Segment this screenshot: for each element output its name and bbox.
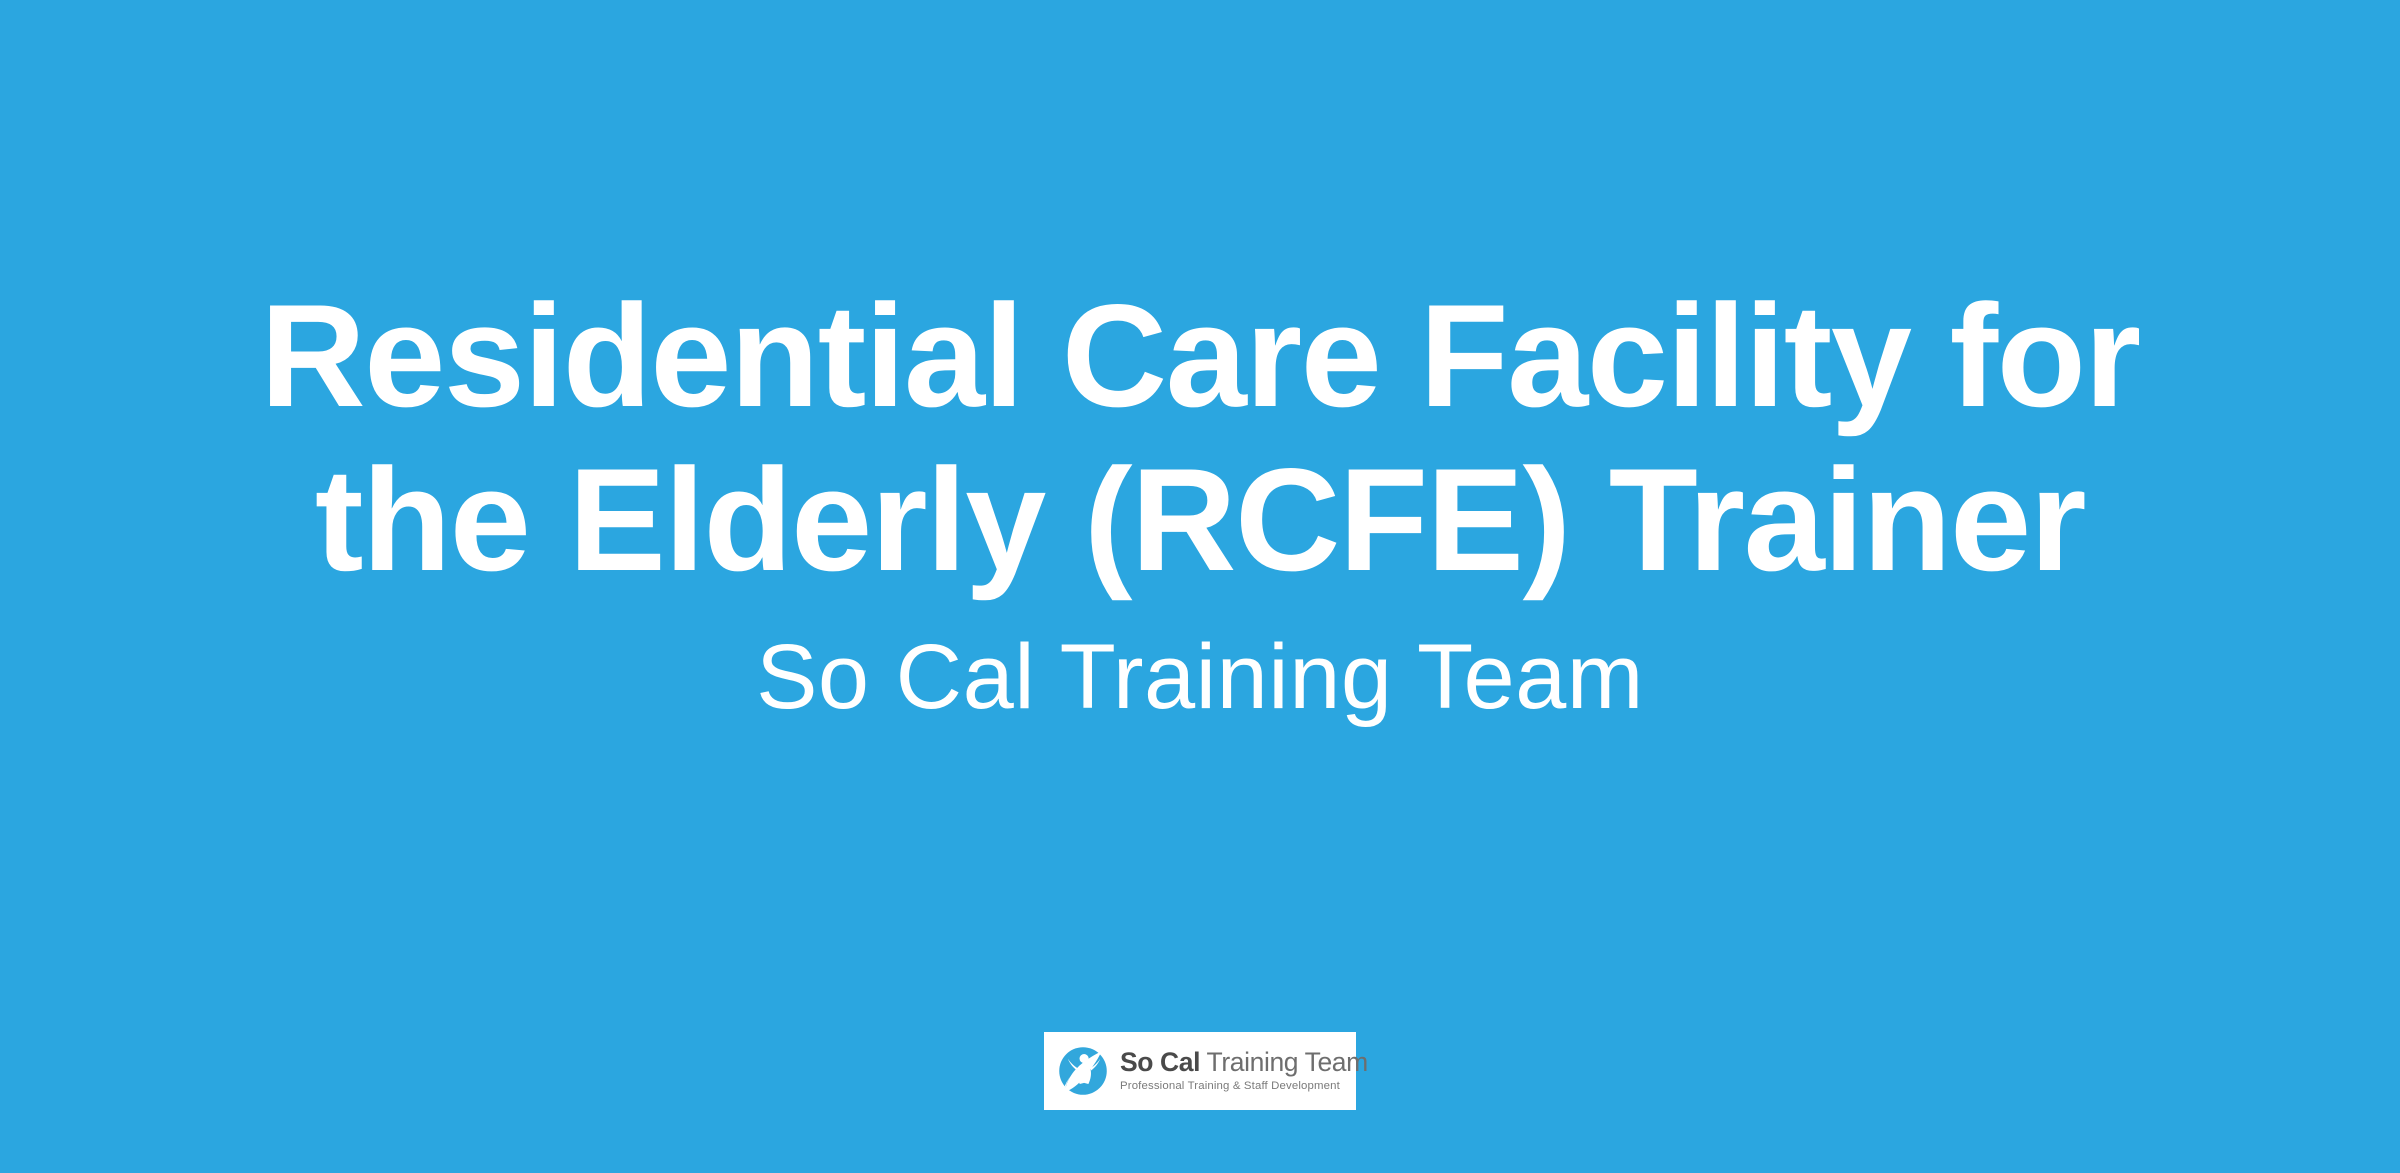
- logo-lockup: So Cal Training Team Professional Traini…: [1044, 1032, 1356, 1110]
- title-block: Residential Care Facility for the Elderl…: [0, 274, 2400, 728]
- page-title: Residential Care Facility for the Elderl…: [160, 274, 2240, 601]
- slide-subtitle: So Cal Training Team: [0, 627, 2400, 728]
- title-slide: Residential Care Facility for the Elderl…: [0, 0, 2400, 1173]
- logo-brand-light: Training Team: [1200, 1047, 1368, 1077]
- logo-text: So Cal Training Team Professional Traini…: [1120, 1049, 1368, 1092]
- logo-brand-bold: So Cal: [1120, 1047, 1200, 1077]
- logo-wordmark: So Cal Training Team: [1120, 1049, 1368, 1077]
- logo-tagline: Professional Training & Staff Developmen…: [1120, 1081, 1368, 1092]
- person-leaf-circle-icon: [1056, 1044, 1110, 1098]
